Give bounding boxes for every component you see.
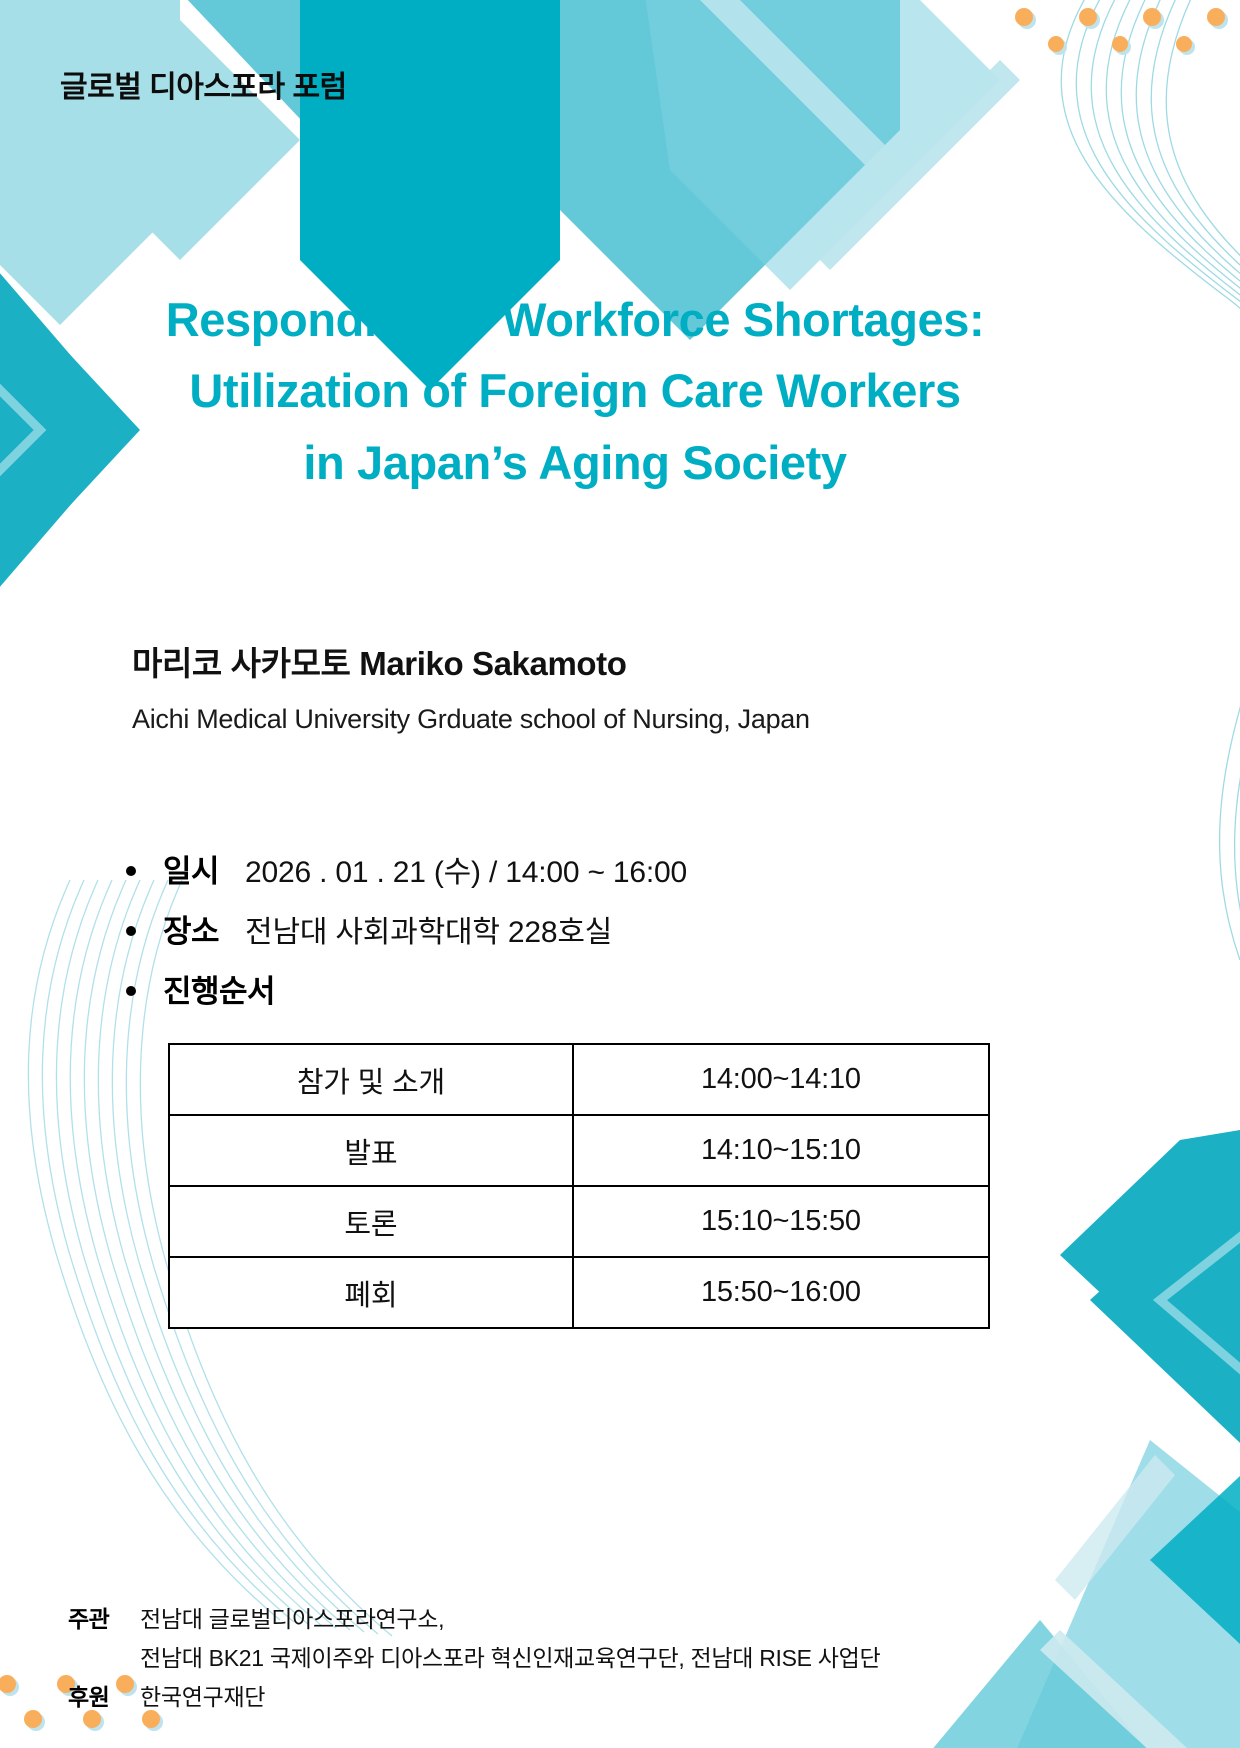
event-details: 일시 2026 . 01 . 21 (수) / 14:00 ~ 16:00 장소… [126,846,687,1026]
schedule-item: 발표 [169,1115,573,1186]
schedule-time: 14:00~14:10 [573,1044,989,1115]
schedule-item: 참가 및 소개 [169,1044,573,1115]
footer-credits: 주관 전남대 글로벌디아스포라연구소, 전남대 BK21 국제이주와 디아스포라… [68,1600,880,1717]
footer-text-sponsor: 한국연구재단 [140,1678,265,1712]
page-title: Responding to Workforce Shortages: Utili… [70,284,1080,498]
bullet-icon [126,986,136,996]
schedule-item: 폐회 [169,1257,573,1328]
schedule-time: 15:50~16:00 [573,1257,989,1328]
footer-label-sponsor: 후원 [68,1678,140,1712]
table-row: 폐회 15:50~16:00 [169,1257,989,1328]
schedule-item: 토론 [169,1186,573,1257]
wave-lines-top-right [1061,0,1240,995]
detail-label-date: 일시 [163,846,219,891]
speaker-name: 마리코 사카모토 Mariko Sakamoto [132,637,810,685]
footer-text-host-2: 전남대 BK21 국제이주와 디아스포라 혁신인재교육연구단, 전남대 RISE… [140,1639,880,1673]
title-line-2: Utilization of Foreign Care Workers [70,355,1080,426]
title-line-1: Responding to Workforce Shortages: [70,284,1080,355]
footer-label-host: 주관 [68,1600,140,1634]
footer-row-sponsor: 후원 한국연구재단 [68,1678,880,1712]
detail-value-date: 2026 . 01 . 21 (수) / 14:00 ~ 16:00 [245,847,687,891]
schedule-time: 14:10~15:10 [573,1115,989,1186]
table-row: 토론 15:10~15:50 [169,1186,989,1257]
detail-row-venue: 장소 전남대 사회과학대학 228호실 [126,906,687,951]
table-row: 발표 14:10~15:10 [169,1115,989,1186]
detail-row-program: 진행순서 [126,966,687,1011]
bottom-chevron-group [900,1420,1240,1748]
bullet-icon [126,926,136,936]
schedule-table: 참가 및 소개 14:00~14:10 발표 14:10~15:10 토론 15… [168,1043,990,1329]
title-line-3: in Japan’s Aging Society [70,427,1080,498]
detail-value-venue: 전남대 사회과학대학 228호실 [245,907,612,951]
speaker-info: 마리코 사카모토 Mariko Sakamoto Aichi Medical U… [132,637,810,735]
schedule-time: 15:10~15:50 [573,1186,989,1257]
footer-row-host: 주관 전남대 글로벌디아스포라연구소, [68,1600,880,1634]
bullet-icon [126,866,136,876]
footer-text-host-1: 전남대 글로벌디아스포라연구소, [140,1600,444,1634]
detail-label-venue: 장소 [163,906,219,951]
forum-title-label: 글로벌 디아스포라 포럼 [60,62,347,106]
footer-row-host-continued: 전남대 BK21 국제이주와 디아스포라 혁신인재교육연구단, 전남대 RISE… [68,1639,880,1673]
detail-row-date: 일시 2026 . 01 . 21 (수) / 14:00 ~ 16:00 [126,846,687,891]
speaker-affiliation: Aichi Medical University Grduate school … [132,704,810,735]
poster-canvas: 글로벌 디아스포라 포럼 Responding to Workforce Sho… [0,0,1240,1748]
table-row: 참가 및 소개 14:00~14:10 [169,1044,989,1115]
detail-label-program: 진행순서 [163,966,275,1011]
dot-grid-top-right [1015,8,1228,55]
